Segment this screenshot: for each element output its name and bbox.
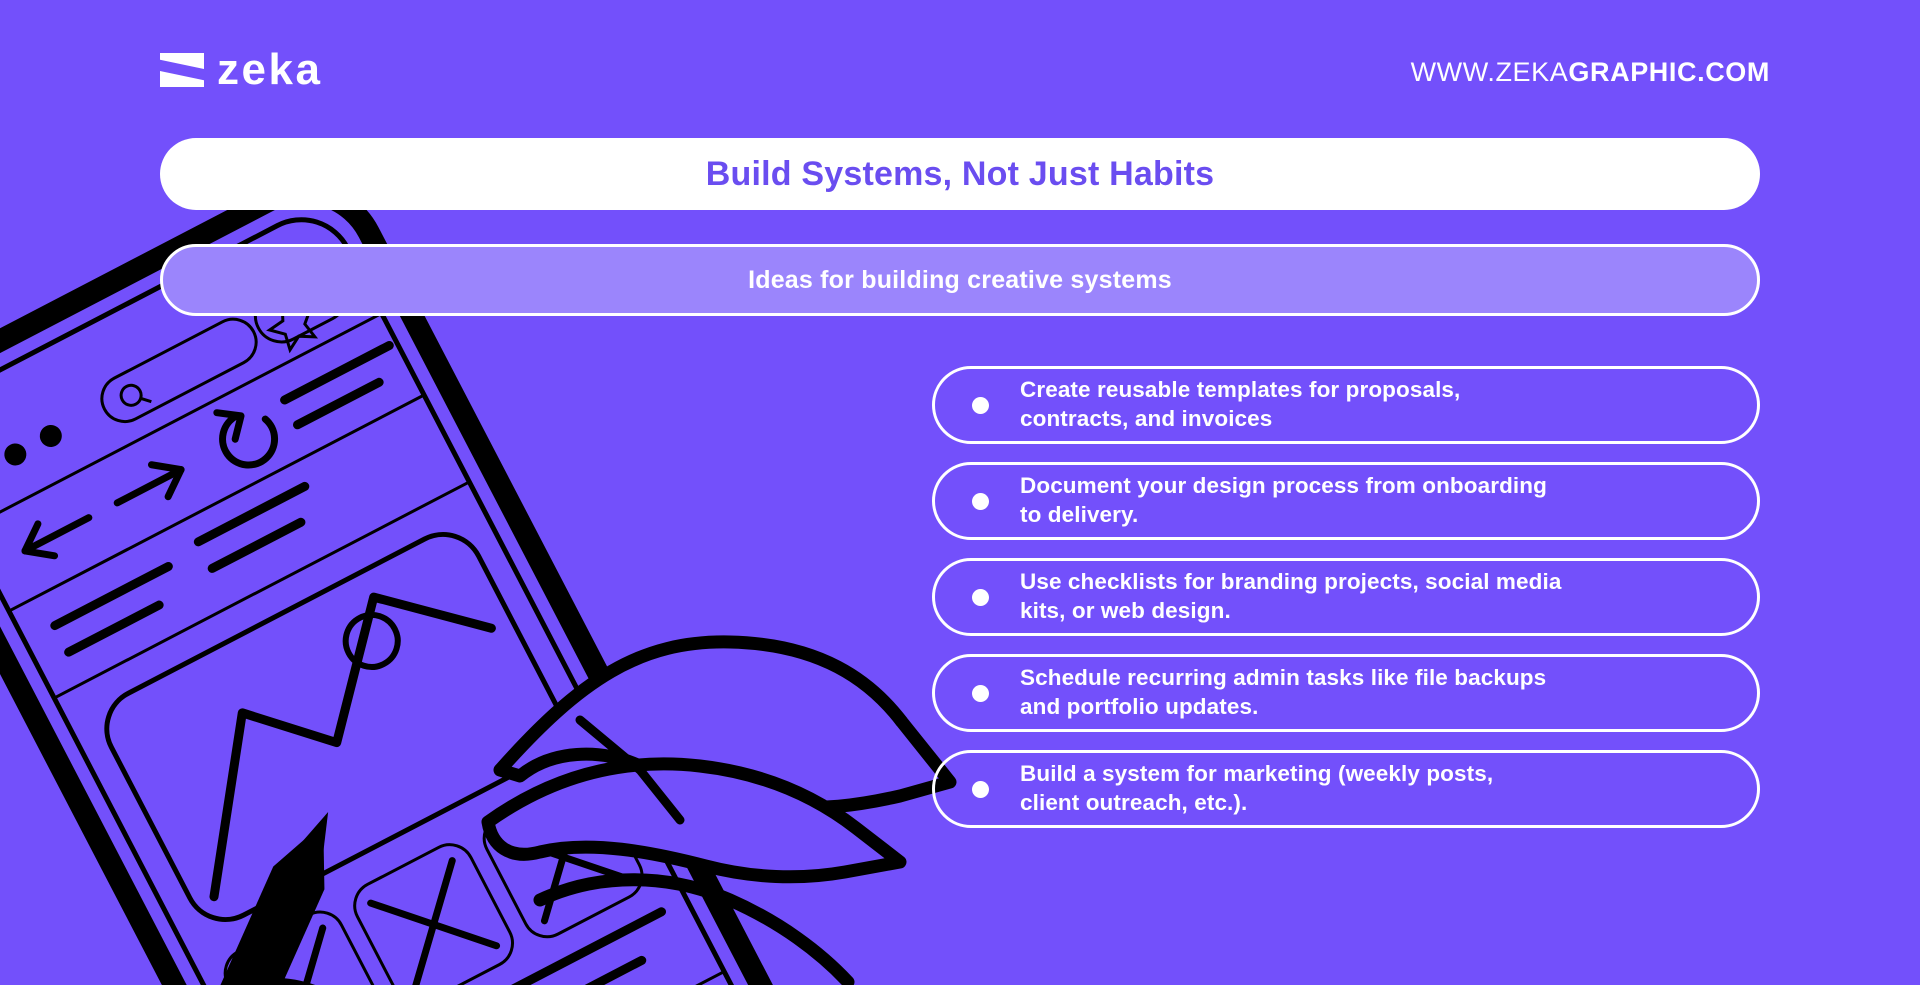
list-item-line2: kits, or web design. [1020,598,1231,623]
list-item-text: Build a system for marketing (weekly pos… [1020,760,1493,818]
bullet-dot-icon [972,397,989,414]
list-item-line2: contracts, and invoices [1020,406,1272,431]
list-item[interactable]: Use checklists for branding projects, so… [932,558,1760,636]
site-url-bold: GRAPHIC.COM [1568,57,1770,87]
tips-list: Create reusable templates for proposals,… [932,366,1760,846]
list-item-line1: Build a system for marketing (weekly pos… [1020,761,1493,786]
zeka-flag-mark-icon [160,53,204,87]
subtitle-banner: Ideas for building creative systems [160,244,1760,316]
list-item-line1: Document your design process from onboar… [1020,473,1547,498]
list-item-text: Create reusable templates for proposals,… [1020,376,1460,434]
phone-illustration [0,210,1000,985]
site-url[interactable]: WWW.ZEKAGRAPHIC.COM [1411,57,1770,88]
brand-logo[interactable]: zeka [160,48,322,92]
list-item-line2: and portfolio updates. [1020,694,1258,719]
list-item[interactable]: Build a system for marketing (weekly pos… [932,750,1760,828]
list-item[interactable]: Document your design process from onboar… [932,462,1760,540]
list-item-text: Schedule recurring admin tasks like file… [1020,664,1546,722]
list-item-text: Use checklists for branding projects, so… [1020,568,1561,626]
poster-canvas: zeka WWW.ZEKAGRAPHIC.COM Build Systems, … [0,0,1920,985]
list-item-line1: Create reusable templates for proposals, [1020,377,1460,402]
bullet-dot-icon [972,781,989,798]
brand-name: zeka [217,48,322,92]
page-title: Build Systems, Not Just Habits [706,155,1215,194]
list-item-line2: client outreach, etc.). [1020,790,1247,815]
page-subtitle: Ideas for building creative systems [748,266,1172,295]
site-url-light: WWW.ZEKA [1411,57,1569,87]
list-item-text: Document your design process from onboar… [1020,472,1547,530]
bullet-dot-icon [972,589,989,606]
bullet-dot-icon [972,493,989,510]
bullet-dot-icon [972,685,989,702]
list-item[interactable]: Schedule recurring admin tasks like file… [932,654,1760,732]
list-item[interactable]: Create reusable templates for proposals,… [932,366,1760,444]
list-item-line1: Schedule recurring admin tasks like file… [1020,665,1546,690]
list-item-line1: Use checklists for branding projects, so… [1020,569,1561,594]
title-banner: Build Systems, Not Just Habits [160,138,1760,210]
list-item-line2: to delivery. [1020,502,1138,527]
